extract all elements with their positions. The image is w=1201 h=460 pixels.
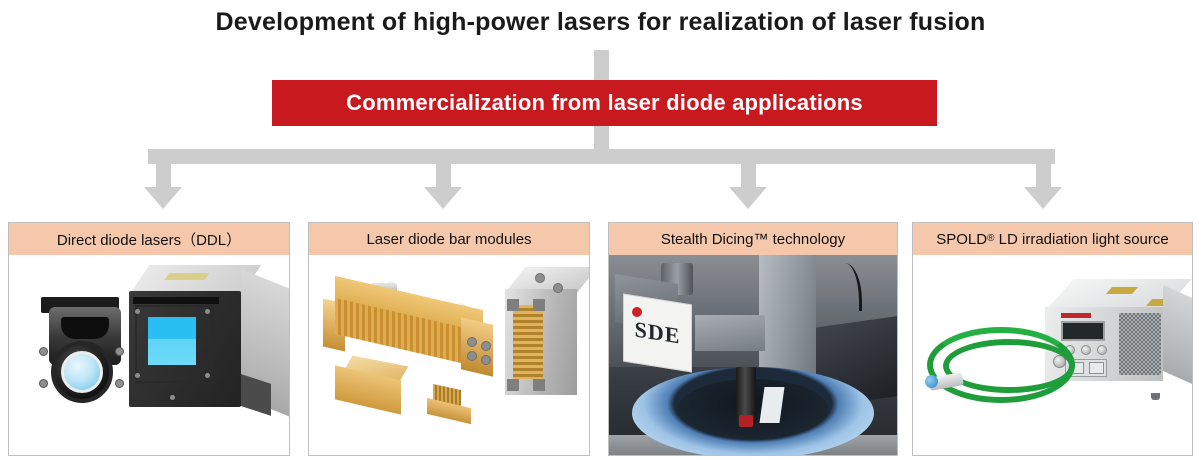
page-title: Development of high-power lasers for rea… <box>0 8 1201 37</box>
registered-trademark-icon: ® <box>987 233 994 244</box>
panel-1-image <box>9 255 289 455</box>
panel-laser-diode-bar-modules[interactable]: Laser diode bar modules <box>308 222 590 456</box>
commercialization-banner: Commercialization from laser diode appli… <box>272 80 937 126</box>
arrow-head-1-icon <box>144 187 182 209</box>
screw-icon <box>205 373 210 378</box>
arrow-stem-2 <box>436 149 451 187</box>
bolt-hole-icon <box>481 341 491 351</box>
bolt-hole-icon <box>535 273 545 283</box>
stack-corner-bracket <box>533 379 545 391</box>
sde-nameplate: SDE <box>623 294 692 373</box>
panel-1-header: Direct diode lasers（DDL） <box>9 223 289 255</box>
arrow-head-2-icon <box>424 187 462 209</box>
panel-4-header-label: SPOLD® LD irradiation light source <box>936 231 1169 248</box>
stack-corner-bracket <box>507 379 519 391</box>
arrow-distribution-bar <box>148 149 1055 164</box>
unit-button[interactable] <box>1089 362 1104 374</box>
green-fiber-cable-loop <box>943 339 1075 393</box>
laser-faceplate <box>135 305 213 383</box>
screw-icon <box>135 373 140 378</box>
unit-brand-mark <box>1061 313 1091 318</box>
arrow-stem-3 <box>741 149 756 187</box>
control-knob-icon[interactable] <box>1097 345 1107 355</box>
unit-side-face <box>1163 285 1192 386</box>
red-tulip-logo-icon <box>632 307 642 317</box>
panel-2-header: Laser diode bar modules <box>309 223 589 255</box>
panel-direct-diode-lasers[interactable]: Direct diode lasers（DDL） <box>8 222 290 456</box>
arrow-head-3-icon <box>729 187 767 209</box>
bolt-hole-icon <box>467 351 477 361</box>
control-knob-icon[interactable] <box>1081 345 1091 355</box>
panel-4-header-suffix: LD irradiation light source <box>994 231 1168 248</box>
unit-vent-grille <box>1119 313 1161 375</box>
bolt-hole-icon <box>467 337 477 347</box>
laser-enclosure-label <box>165 273 210 280</box>
bolt-icon <box>39 379 48 388</box>
arrow-stem-1 <box>156 149 171 187</box>
panel-3-header: Stealth Dicing™ technology <box>609 223 897 255</box>
panel-4-header-prefix: SPOLD <box>936 231 987 248</box>
lens-glass-element <box>61 351 103 393</box>
machine-vertical-column <box>759 255 817 379</box>
panel-1-header-label: Direct diode lasers（DDL） <box>57 229 241 250</box>
arrow-head-4-icon <box>1024 187 1062 209</box>
bolt-icon <box>115 379 124 388</box>
panel-2-header-label: Laser diode bar modules <box>366 231 531 248</box>
bolt-hole-icon <box>553 283 563 293</box>
lens-notch <box>61 317 109 339</box>
arrow-stem-4 <box>1036 149 1051 187</box>
stack-module-bar-stack <box>513 305 543 379</box>
machine-optical-head <box>695 315 764 351</box>
panel-3-header-label: Stealth Dicing™ technology <box>661 231 845 248</box>
connector-title-to-banner <box>594 50 609 80</box>
unit-display-screen <box>1061 321 1105 341</box>
bolt-icon <box>115 347 124 356</box>
bolt-hole-icon <box>481 355 491 365</box>
stack-corner-bracket <box>533 299 545 311</box>
panel-spold-ld-irradiation-light-source[interactable]: SPOLD® LD irradiation light source <box>912 222 1193 456</box>
panel-4-image <box>913 255 1192 455</box>
unit-foot <box>1151 393 1160 400</box>
screw-icon <box>170 395 175 400</box>
panel-4-header: SPOLD® LD irradiation light source <box>913 223 1192 255</box>
sde-nameplate-text: SDE <box>635 316 681 349</box>
screw-icon <box>135 309 140 314</box>
panel-2-image <box>309 255 589 455</box>
screw-icon <box>205 309 210 314</box>
laser-nozzle-tip <box>739 415 753 427</box>
stack-corner-bracket <box>507 299 519 311</box>
bolt-icon <box>39 347 48 356</box>
laser-enclosure-slot <box>133 297 219 304</box>
panel-3-image: SDE <box>609 255 897 455</box>
banner-label: Commercialization from laser diode appli… <box>346 90 863 116</box>
panel-stealth-dicing-technology[interactable]: Stealth Dicing™ technology SDE <box>608 222 898 456</box>
